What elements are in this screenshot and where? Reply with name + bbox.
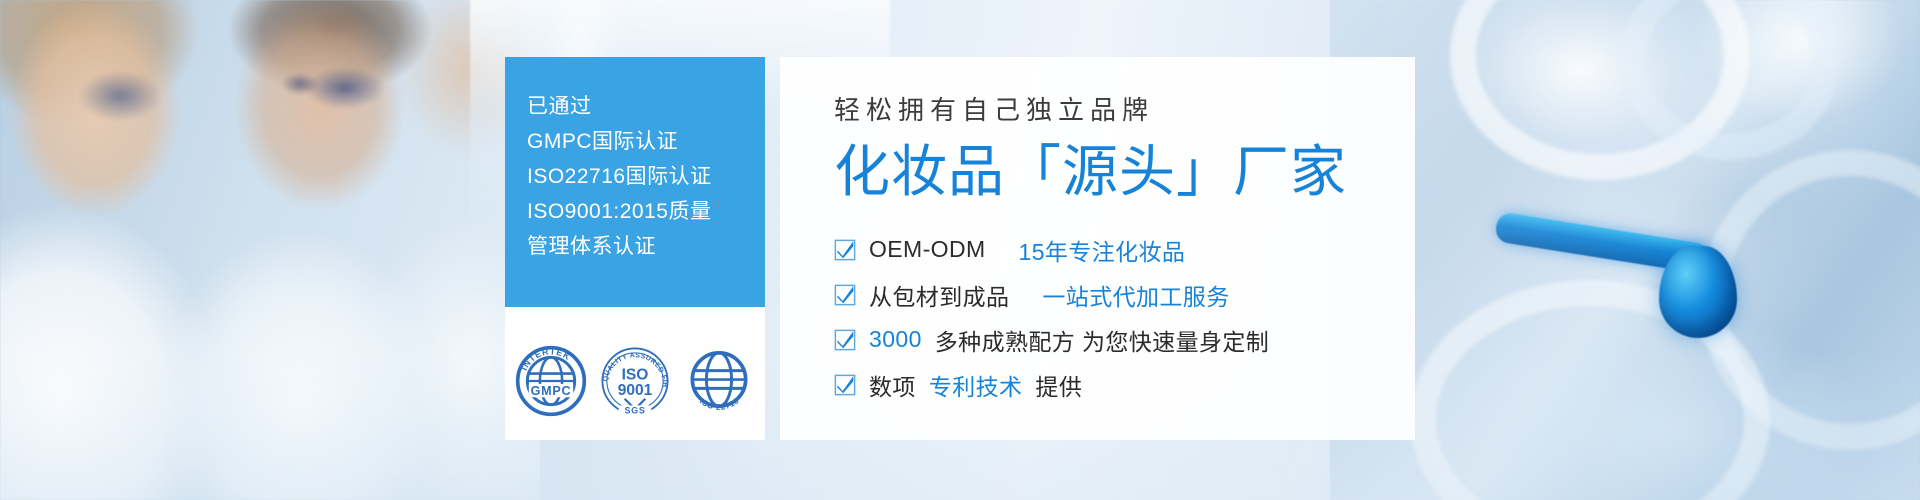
cert-line-5: 管理体系认证 <box>527 229 765 264</box>
gmpc-intertek-badge: INTERTEK GMPC <box>514 344 588 418</box>
iso22716-badge: ISO 22716 <box>682 344 756 418</box>
iso9001-sgs-badge: QUALITY ASSURED FIRM ISO 9001 SGS <box>598 344 672 418</box>
lab-technicians-photo <box>0 0 540 500</box>
bullet-2-segment-1: 从包材到成品 <box>869 278 1009 312</box>
bullet-3-segment-1: 3000 <box>869 326 922 353</box>
headline-text: 化妆品「源头」厂家 <box>834 138 1415 205</box>
checkbox-checked-icon <box>834 374 856 396</box>
bullet-4-segment-1: 数项 <box>869 368 916 402</box>
bullet-2-segment-2: 一站式代加工服务 <box>1042 278 1229 312</box>
svg-text:GMPC: GMPC <box>531 384 572 398</box>
checkbox-checked-icon <box>834 239 856 261</box>
certification-box: 已通过 GMPC国际认证 ISO22716国际认证 ISO9001:2015质量… <box>505 57 765 307</box>
svg-text:9001: 9001 <box>618 382 653 399</box>
cert-line-2: GMPC国际认证 <box>527 124 765 159</box>
cert-line-3: ISO22716国际认证 <box>527 159 765 194</box>
bullet-item-1: OEM-ODM 15年专注化妆品 <box>834 227 1415 272</box>
svg-text:ISO 22716: ISO 22716 <box>698 396 741 412</box>
certification-badge-strip: INTERTEK GMPC QUALITY ASSURED FIRM ISO 9… <box>505 307 765 440</box>
svg-text:SGS: SGS <box>625 405 646 415</box>
kicker-text: 轻松拥有自己独立品牌 <box>834 95 1415 126</box>
feature-bullet-list: OEM-ODM 15年专注化妆品 从包材到成品 一站式代加工服务 3000 多种… <box>834 227 1415 407</box>
bullet-1-segment-1: OEM-ODM <box>869 236 986 263</box>
cert-line-4: ISO9001:2015质量 <box>527 194 765 229</box>
checkbox-checked-icon <box>834 284 856 306</box>
bullet-item-3: 3000 多种成熟配方 为您快速量身定制 <box>834 317 1415 362</box>
bullet-item-4: 数项 专利技术 提供 <box>834 362 1415 407</box>
main-content-panel: 轻松拥有自己独立品牌 化妆品「源头」厂家 OEM-ODM 15年专注化妆品 从包… <box>780 57 1415 440</box>
blue-liquid-drop <box>1659 246 1737 338</box>
bullet-3-segment-2: 多种成熟配方 为您快速量身定制 <box>935 323 1269 357</box>
cert-line-1: 已通过 <box>527 89 765 124</box>
bullet-4-segment-2: 专利技术 <box>929 368 1023 402</box>
bullet-item-2: 从包材到成品 一站式代加工服务 <box>834 272 1415 317</box>
checkbox-checked-icon <box>834 329 856 351</box>
bullet-4-segment-3: 提供 <box>1035 368 1082 402</box>
bullet-1-segment-2: 15年专注化妆品 <box>1019 233 1186 267</box>
svg-text:ISO: ISO <box>622 366 649 383</box>
